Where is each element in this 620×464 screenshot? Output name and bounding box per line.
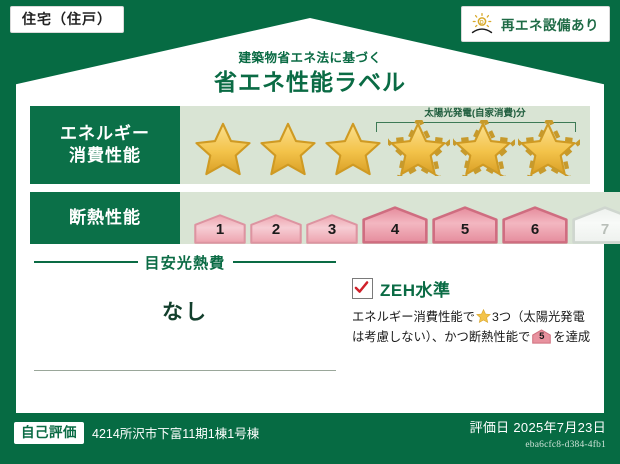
solar-bracket-label: 太陽光発電(自家消費)分	[376, 109, 574, 119]
zeh-standard-block: ZEH水準 エネルギー消費性能で 3つ（太陽光発電 は考慮しない）、かつ断熱性能…	[352, 276, 598, 348]
insulation-level-number: 5	[461, 221, 469, 244]
inline-house-number: 5	[532, 329, 551, 345]
energy-key-line2: 消費性能	[60, 145, 150, 167]
star-solar	[387, 120, 451, 176]
utility-cost-divider	[34, 370, 336, 371]
zeh-desc-part2: は考慮しない）、かつ断熱性能で	[352, 330, 530, 344]
utility-cost-heading: 目安光熱費	[34, 254, 336, 270]
star-filled	[257, 120, 321, 176]
zeh-description: エネルギー消費性能で 3つ（太陽光発電 は考慮しない）、かつ断熱性能で 5 を達…	[352, 308, 598, 348]
insulation-level-2: 2	[250, 214, 302, 244]
house-shape-icon	[572, 206, 620, 244]
star-icon	[259, 122, 317, 176]
star-icon	[324, 122, 382, 176]
label-body: エネルギー 消費性能 太陽光発電(自家消費)分 断熱性能 1234567 目安	[16, 108, 604, 413]
insulation-level-number: 2	[272, 221, 280, 244]
energy-performance-value: 太陽光発電(自家消費)分	[180, 106, 590, 184]
utility-cost-value: なし	[34, 280, 336, 342]
insulation-level-6: 6	[502, 206, 568, 244]
evaluation-type-badge: 自己評価	[14, 422, 84, 444]
check-icon	[354, 280, 369, 295]
insulation-performance-key: 断熱性能	[30, 192, 180, 244]
energy-performance-label: 建築物省エネ法に基づく 省エネ性能ラベル 住宅（住戸） D 再エネ設備あり	[0, 0, 620, 464]
insulation-level-5: 5	[432, 206, 498, 244]
zeh-checkbox	[352, 278, 373, 299]
energy-performance-row: エネルギー 消費性能 太陽光発電(自家消費)分	[30, 106, 590, 184]
utility-cost-title: 目安光熱費	[145, 252, 226, 273]
zeh-heading: ZEH水準	[352, 276, 598, 301]
star-icon	[454, 122, 512, 176]
energy-star-rating	[180, 120, 581, 176]
star-icon	[519, 122, 577, 176]
star-solar	[452, 120, 516, 176]
insulation-level-scale: 1234567	[180, 192, 620, 244]
evaluation-date: 評価日 2025年7月23日	[470, 418, 606, 438]
property-address: 4214所沢市下富11期1棟1号棟	[92, 423, 259, 442]
inline-star-icon	[476, 309, 491, 323]
star-filled	[192, 120, 256, 176]
insulation-level-1: 1	[194, 214, 246, 244]
building-type-chip: 住宅（住戸）	[10, 6, 124, 33]
zeh-desc-part1: エネルギー消費性能で	[352, 310, 475, 324]
insulation-level-4: 4	[362, 206, 428, 244]
insulation-level-7: 7	[572, 206, 620, 244]
insulation-level-number: 6	[531, 221, 539, 244]
energy-performance-key: エネルギー 消費性能	[30, 106, 180, 184]
insulation-level-number: 3	[328, 221, 336, 244]
star-icon	[194, 122, 252, 176]
insulation-level-3: 3	[306, 214, 358, 244]
insulation-performance-row: 断熱性能 1234567	[30, 192, 590, 244]
renewable-equipment-badge: D 再エネ設備あり	[461, 6, 610, 42]
inline-house-icon: 5	[532, 329, 551, 344]
star-icon	[389, 122, 447, 176]
zeh-desc-part3: を達成	[553, 330, 590, 344]
sun-icon: D	[470, 12, 494, 36]
document-id: eba6cfc8-d384-4fb1	[470, 438, 606, 452]
svg-text:D: D	[480, 20, 484, 26]
star-filled	[322, 120, 386, 176]
footer-right: 評価日 2025年7月23日 eba6cfc8-d384-4fb1	[470, 418, 606, 452]
label-footer: 自己評価 4214所沢市下富11期1棟1号棟 評価日 2025年7月23日 eb…	[0, 416, 620, 464]
star-solar	[517, 120, 581, 176]
zeh-desc-stars: 3つ（太陽光発電	[492, 310, 585, 324]
insulation-level-number: 4	[391, 221, 399, 244]
energy-key-line1: エネルギー	[60, 123, 150, 145]
insulation-level-number: 1	[216, 221, 224, 244]
zeh-title: ZEH水準	[380, 276, 451, 301]
insulation-performance-value: 1234567	[180, 192, 620, 244]
insulation-level-number: 7	[601, 221, 609, 244]
footer-left: 自己評価 4214所沢市下富11期1棟1号棟	[14, 422, 259, 444]
renewable-badge-label: 再エネ設備あり	[501, 14, 599, 34]
